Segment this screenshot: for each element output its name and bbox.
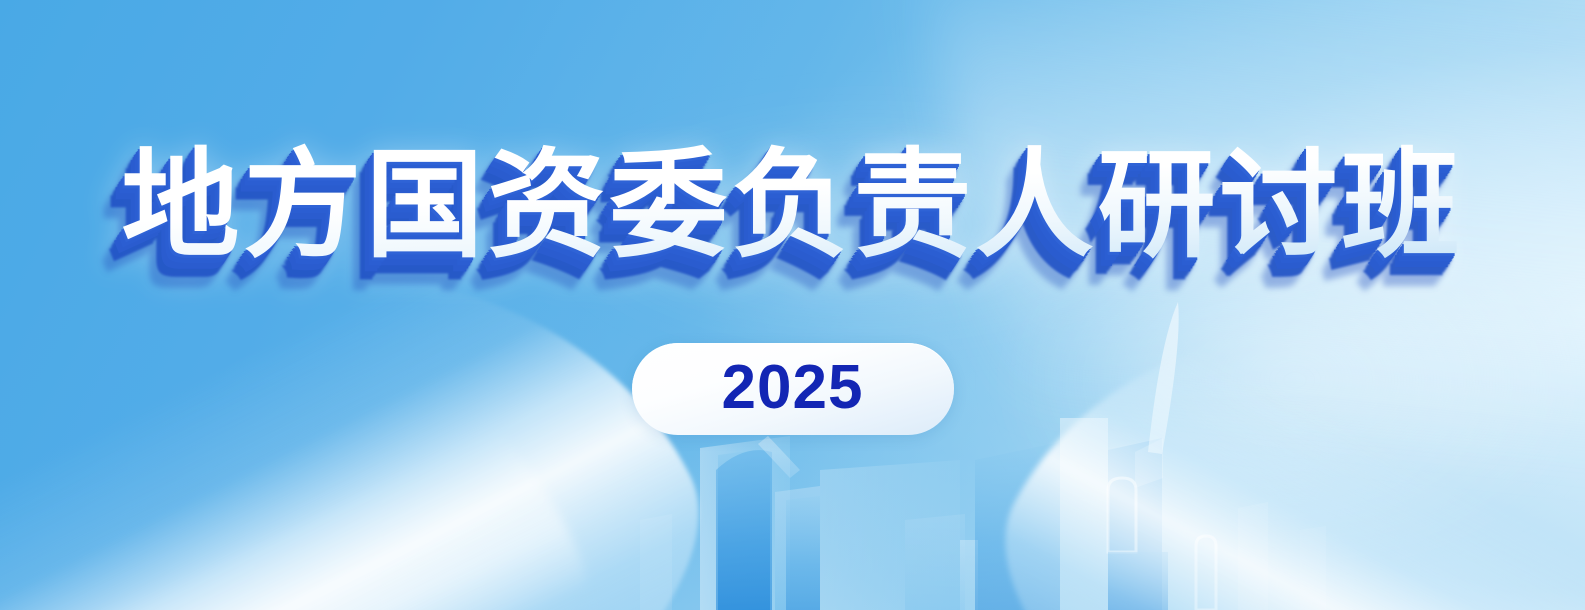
year-badge-label: 2025 bbox=[722, 357, 864, 419]
banner-title-wrap: 地方国资委负责人研讨班 bbox=[0, 142, 1585, 269]
year-badge: 2025 bbox=[632, 343, 954, 435]
seminar-banner: 地方国资委负责人研讨班 2025 bbox=[0, 0, 1585, 610]
banner-title: 地方国资委负责人研讨班 bbox=[121, 142, 1463, 269]
year-badge-wrap: 2025 bbox=[0, 343, 1585, 435]
